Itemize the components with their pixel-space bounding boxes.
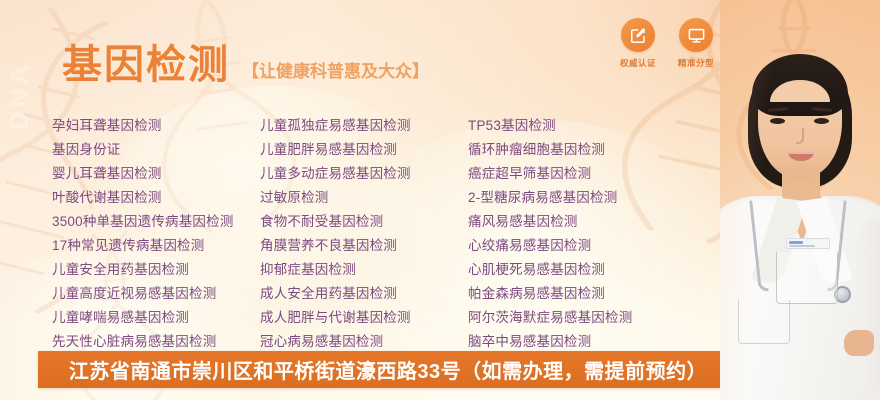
hand bbox=[844, 330, 874, 356]
arm-right bbox=[856, 220, 880, 390]
list-item[interactable]: 食物不耐受基因检测 bbox=[260, 210, 468, 234]
list-item[interactable]: 婴儿耳聋基因检测 bbox=[52, 162, 260, 186]
coat-pocket-side bbox=[738, 300, 790, 344]
badge-precise-typing[interactable]: 精准分型 bbox=[674, 18, 718, 69]
list-item[interactable]: 叶酸代谢基因检测 bbox=[52, 186, 260, 210]
badge-authority-certified[interactable]: 权威认证 bbox=[616, 18, 660, 69]
list-item[interactable]: 儿童安全用药基因检测 bbox=[52, 258, 260, 282]
list-item[interactable]: 3500种单基因遗传病基因检测 bbox=[52, 210, 260, 234]
nose bbox=[796, 128, 804, 144]
list-item[interactable]: 心肌梗死易感基因检测 bbox=[468, 258, 698, 282]
list-item[interactable]: 癌症超早筛基因检测 bbox=[468, 162, 698, 186]
list-item[interactable]: 角膜营养不良基因检测 bbox=[260, 234, 468, 258]
page-subtitle: 【让健康科普惠及大众】 bbox=[242, 57, 429, 85]
badge-icon-wrap bbox=[621, 18, 655, 52]
promo-poster: DNA DNA 基因检测 【让健康科普惠及大众】 权威认证 bbox=[0, 0, 880, 400]
list-item[interactable]: 儿童多动症易感基因检测 bbox=[260, 162, 468, 186]
address-banner: 江苏省南通市崇川区和平桥街道濠西路33号（如需办理，需提前预约） bbox=[38, 351, 738, 388]
eye-left bbox=[770, 118, 785, 124]
test-column-1: 孕妇耳聋基因检测 基因身份证 婴儿耳聋基因检测 叶酸代谢基因检测 3500种单基… bbox=[52, 114, 260, 354]
test-item-columns: 孕妇耳聋基因检测 基因身份证 婴儿耳聋基因检测 叶酸代谢基因检测 3500种单基… bbox=[52, 114, 698, 354]
list-item[interactable]: 成人肥胖与代谢基因检测 bbox=[260, 306, 468, 330]
list-item[interactable]: 过敏原检测 bbox=[260, 186, 468, 210]
list-item[interactable]: TP53基因检测 bbox=[468, 114, 698, 138]
list-item[interactable]: 帕金森病易感基因检测 bbox=[468, 282, 698, 306]
page-title: 基因检测 bbox=[62, 45, 230, 85]
list-item[interactable]: 基因身份证 bbox=[52, 138, 260, 162]
badge-label: 精准分型 bbox=[678, 57, 714, 69]
list-item[interactable]: 抑郁症基因检测 bbox=[260, 258, 468, 282]
badge-icon-wrap bbox=[679, 18, 713, 52]
list-item[interactable]: 成人安全用药基因检测 bbox=[260, 282, 468, 306]
address-text: 江苏省南通市崇川区和平桥街道濠西路33号（如需办理，需提前预约） bbox=[69, 355, 707, 384]
monitor-icon bbox=[687, 26, 706, 45]
badge-label: 权威认证 bbox=[620, 57, 656, 69]
list-item[interactable]: 循环肿瘤细胞基因检测 bbox=[468, 138, 698, 162]
list-item[interactable]: 儿童肥胖易感基因检测 bbox=[260, 138, 468, 162]
name-badge bbox=[786, 238, 830, 249]
test-column-2: 儿童孤独症易感基因检测 儿童肥胖易感基因检测 儿童多动症易感基因检测 过敏原检测… bbox=[260, 114, 468, 354]
doctor-photo bbox=[720, 0, 880, 400]
list-item[interactable]: 2-型糖尿病易感基因检测 bbox=[468, 186, 698, 210]
watermark-left: DNA bbox=[4, 62, 35, 130]
list-item[interactable]: 17种常见遗传病基因检测 bbox=[52, 234, 260, 258]
list-item[interactable]: 阿尔茨海默症易感基因检测 bbox=[468, 306, 698, 330]
test-column-3: TP53基因检测 循环肿瘤细胞基因检测 癌症超早筛基因检测 2-型糖尿病易感基因… bbox=[468, 114, 698, 354]
coat-pocket-chest bbox=[776, 252, 838, 304]
eye-right bbox=[814, 118, 829, 124]
title-block: 基因检测 【让健康科普惠及大众】 bbox=[62, 45, 429, 85]
list-item[interactable]: 儿童孤独症易感基因检测 bbox=[260, 114, 468, 138]
list-item[interactable]: 儿童高度近视易感基因检测 bbox=[52, 282, 260, 306]
list-item[interactable]: 痛风易感基因检测 bbox=[468, 210, 698, 234]
list-item[interactable]: 心绞痛易感基因检测 bbox=[468, 234, 698, 258]
list-item[interactable]: 孕妇耳聋基因检测 bbox=[52, 114, 260, 138]
pencil-document-icon bbox=[629, 26, 648, 45]
list-item[interactable]: 儿童哮喘易感基因检测 bbox=[52, 306, 260, 330]
